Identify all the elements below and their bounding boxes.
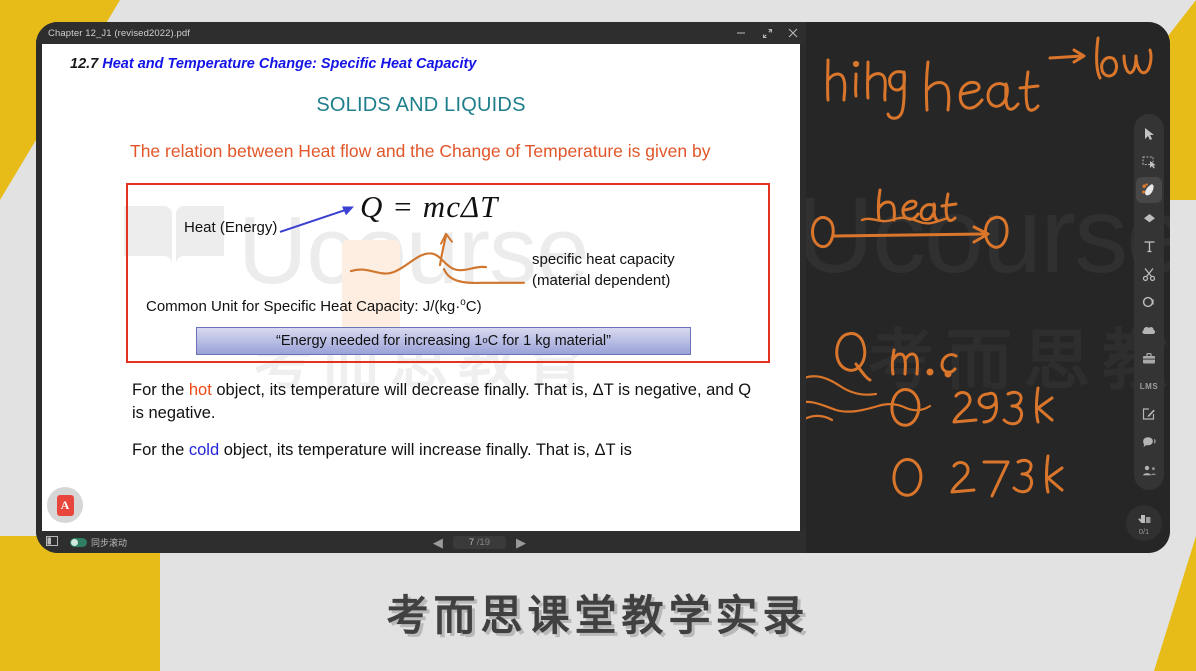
tail-paragraph-cold: For the cold object, its temperature wil… (132, 439, 762, 462)
handwriting-ink-layer: O --> (806, 22, 1170, 553)
pen-icon[interactable] (1136, 177, 1162, 203)
cloud-icon[interactable] (1136, 317, 1162, 343)
unit-suffix: C) (466, 298, 482, 315)
ink-arrow-right (1050, 50, 1084, 62)
ink-word-high (828, 60, 905, 118)
whiteboard-pane[interactable]: Ucourse 考而思教育 (806, 22, 1170, 553)
edit-square-icon[interactable] (1136, 401, 1162, 427)
cursor-icon[interactable] (1136, 121, 1162, 147)
ink-word-low (1097, 38, 1151, 78)
pdf-title-bar: Chapter 12_J1 (revised2022).pdf (36, 22, 806, 44)
slide-body: 12.7 Heat and Temperature Change: Specif… (42, 56, 800, 463)
orange-squiggle-annotation (351, 233, 524, 282)
briefcase-icon[interactable] (1136, 345, 1162, 371)
cold-suffix: object, its temperature will increase fi… (219, 441, 632, 459)
text-icon[interactable] (1136, 233, 1162, 259)
ink-word-heat (926, 62, 1038, 110)
ink-diagram-heat-flow (813, 190, 1008, 247)
app-window: Chapter 12_J1 (revised2022).pdf (36, 22, 1170, 553)
quote-part-1: “Energy needed for increasing 1 (276, 333, 482, 349)
equation-label-specific-heat: specific heat capacity (material depende… (532, 249, 675, 291)
equation-quote-box: “Energy needed for increasing 1oC for 1 … (196, 327, 691, 355)
slide-heading: 12.7 Heat and Temperature Change: Specif… (70, 56, 784, 72)
blue-arrow-icon (280, 206, 354, 231)
drawing-toolbar: LMS (1134, 114, 1164, 490)
chat-icon[interactable] (1136, 429, 1162, 455)
cold-keyword: cold (189, 441, 219, 459)
shc-line-1: specific heat capacity (532, 249, 675, 270)
pdf-file-name: Chapter 12_J1 (revised2022).pdf (48, 28, 728, 39)
quote-part-2: C for 1 kg material” (488, 333, 611, 349)
page-navigation: ◀ 7 /19 ▶ (433, 536, 796, 549)
ink-formula-qmc (837, 334, 956, 380)
prev-page-button[interactable]: ◀ (433, 536, 443, 549)
hot-keyword: hot (189, 381, 212, 399)
lms-icon[interactable]: LMS (1136, 373, 1162, 399)
ink-line-273k (894, 456, 1062, 496)
pdf-acrobat-icon[interactable]: A (47, 487, 83, 523)
pdf-page-canvas[interactable]: Ucourse 考而思教育 12.7 Heat and Temperature … (42, 44, 800, 531)
shc-line-2: (material dependent) (532, 270, 675, 291)
next-page-button[interactable]: ▶ (516, 536, 526, 549)
raise-hand-count: 0/1 (1139, 527, 1149, 536)
ink-line-293k (892, 388, 1052, 425)
cold-prefix: For the (132, 441, 189, 459)
page-total: /19 (477, 537, 490, 548)
sync-scroll-switch[interactable] (70, 538, 87, 547)
slide-heading-title: Heat and Temperature Change: Specific He… (102, 56, 476, 72)
marquee-select-icon[interactable] (1136, 149, 1162, 175)
hot-suffix: object, its temperature will decrease fi… (132, 381, 751, 422)
slide-subtitle: SOLIDS AND LIQUIDS (58, 94, 784, 117)
eraser-icon[interactable] (1136, 205, 1162, 231)
unit-prefix: Common Unit for Specific Heat Capacity: … (146, 298, 460, 315)
page-current: 7 (469, 537, 474, 548)
sync-scroll-toggle[interactable]: 同步滚动 (70, 536, 127, 549)
slide-tail-paragraphs: For the hot object, its temperature will… (132, 379, 762, 463)
users-icon[interactable] (1136, 457, 1162, 483)
ink-squiggle-left (806, 376, 930, 424)
raise-hand-icon (1137, 511, 1152, 526)
equation-unit-line: Common Unit for Specific Heat Capacity: … (146, 297, 482, 315)
hot-prefix: For the (132, 381, 189, 399)
pdf-badge-glyph: A (57, 495, 74, 516)
maximize-icon[interactable] (754, 22, 780, 44)
close-icon[interactable] (780, 22, 806, 44)
tail-paragraph-hot: For the hot object, its temperature will… (132, 379, 762, 426)
slide-intro-paragraph: The relation between Heat flow and the C… (130, 139, 770, 165)
sidebar-toggle-icon[interactable] (46, 536, 58, 548)
scissors-icon[interactable] (1136, 261, 1162, 287)
pdf-bottom-toolbar: 同步滚动 ◀ 7 /19 ▶ (36, 531, 806, 553)
slide-heading-number: 12.7 (70, 56, 98, 72)
minimize-icon[interactable] (728, 22, 754, 44)
sync-scroll-label: 同步滚动 (91, 536, 127, 549)
banner-title: 考而思课堂教学实录 (386, 582, 809, 643)
bottom-banner: 考而思课堂教学实录 (0, 553, 1196, 671)
page-indicator[interactable]: 7 /19 (453, 536, 506, 549)
pdf-viewer-pane: Chapter 12_J1 (revised2022).pdf (36, 22, 806, 553)
formula-box: Q = mcΔT Heat (Energy) (126, 183, 770, 363)
raise-hand-button[interactable]: 0/1 (1126, 505, 1162, 541)
shape-icon[interactable] (1136, 289, 1162, 315)
